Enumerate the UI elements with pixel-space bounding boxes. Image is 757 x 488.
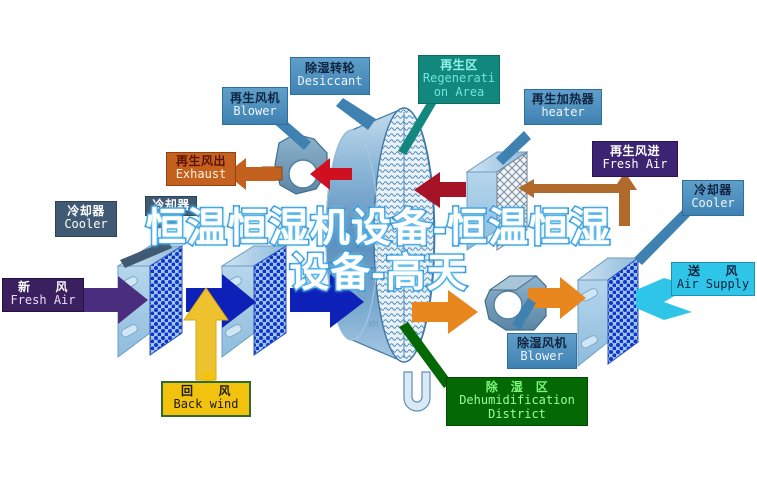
label-cn: 再生风出 xyxy=(170,155,232,168)
condensate-drain xyxy=(404,372,430,411)
label-regen-exhaust[interactable]: 再生风出 Exhaust xyxy=(166,152,236,186)
label-en: Blower xyxy=(511,350,573,363)
label-en: Air Supply xyxy=(675,278,751,291)
regeneration-heater xyxy=(467,152,527,250)
label-cn: 再生加热器 xyxy=(528,93,598,106)
label-dehum-blower[interactable]: 除湿风机 Blower xyxy=(507,333,577,369)
label-regen-fresh-air[interactable]: 再生风进 Fresh Air xyxy=(592,141,678,177)
label-en: Cooler xyxy=(686,197,740,210)
flow-regen-to-heater xyxy=(518,179,628,198)
label-cn: 送 风 xyxy=(675,265,751,278)
label-cooler-left-secondary[interactable]: 冷却器 xyxy=(145,196,197,216)
dehumidifier-diagram: xh xyxy=(0,0,757,488)
label-cn: 再生风进 xyxy=(596,145,674,158)
label-en: Blower xyxy=(226,105,284,118)
regeneration-blower xyxy=(262,134,327,194)
label-en: Desiccant xyxy=(294,75,366,88)
label-en: Cooler xyxy=(59,218,113,231)
flow-regen-fresh-in-up xyxy=(613,172,637,226)
diagram-canvas: xh xyxy=(0,0,757,488)
label-cn: 再生区 xyxy=(422,59,496,72)
label-en: heater xyxy=(528,106,598,119)
svg-text:xh: xh xyxy=(368,319,379,330)
label-cn: 除 湿 区 xyxy=(450,381,584,394)
label-en: Fresh Air xyxy=(6,294,80,307)
label-cn: 回 风 xyxy=(166,385,246,398)
label-regeneration-area[interactable]: 再生区 Regenerati on Area xyxy=(418,55,500,104)
label-cn: 再生风机 xyxy=(226,92,284,105)
label-cn: 冷却器 xyxy=(59,205,113,218)
label-back-wind[interactable]: 回 风 Back wind xyxy=(161,381,251,417)
label-air-supply[interactable]: 送 风 Air Supply xyxy=(671,262,755,296)
label-cn: 冷却器 xyxy=(686,184,740,197)
label-en: Dehumidification District xyxy=(450,394,584,421)
label-cooler-right[interactable]: 冷却器 Cooler xyxy=(682,180,744,216)
label-dehum-district[interactable]: 除 湿 区 Dehumidification District xyxy=(446,377,588,426)
label-en: Back wind xyxy=(166,398,246,411)
label-fresh-air-left[interactable]: 新 风 Fresh Air xyxy=(2,278,84,312)
label-cn: 新 风 xyxy=(6,281,80,294)
label-cn: 除湿转轮 xyxy=(294,62,366,75)
label-regen-heater[interactable]: 再生加热器 heater xyxy=(524,89,602,125)
label-cn: 冷却器 xyxy=(148,199,194,212)
label-cn: 除湿风机 xyxy=(511,337,573,350)
supply-cooling-coil xyxy=(578,258,638,366)
desiccant-rotor-wheel: xh xyxy=(326,108,435,362)
label-en: Regenerati on Area xyxy=(422,72,496,99)
label-en: Fresh Air xyxy=(596,158,674,171)
label-en: Exhaust xyxy=(170,168,232,181)
label-desiccant-rotor[interactable]: 除湿转轮 Desiccant xyxy=(290,57,370,95)
label-cooler-left[interactable]: 冷却器 Cooler xyxy=(55,201,117,237)
label-regen-blower[interactable]: 再生风机 Blower xyxy=(222,87,288,125)
